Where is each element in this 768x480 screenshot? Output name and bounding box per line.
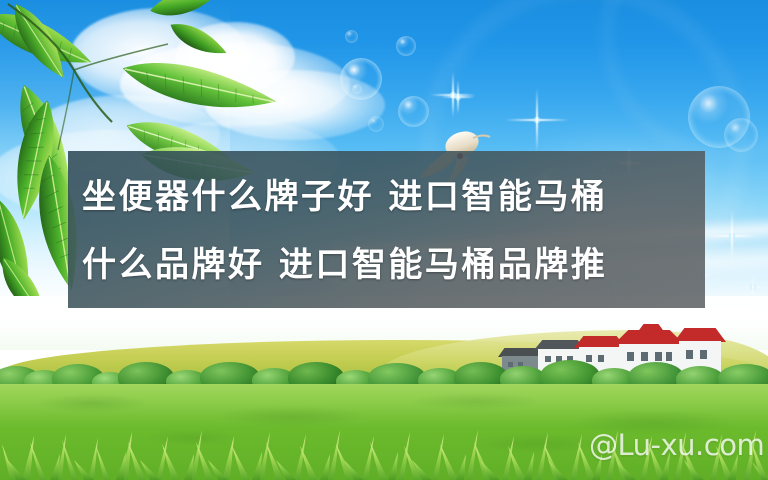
bubble-icon	[352, 84, 362, 94]
headline-line-2: 什么品牌好 进口智能马桶品牌推	[82, 230, 691, 300]
bubble-icon	[345, 30, 358, 43]
headline-text-block: 坐便器什么牌子好 进口智能马桶 什么品牌好 进口智能马桶品牌推	[68, 151, 705, 308]
headline-overlay: 坐便器什么牌子好 进口智能马桶 什么品牌好 进口智能马桶品牌推	[68, 151, 705, 308]
bubble-icon	[398, 96, 429, 127]
bubble-icon	[724, 118, 758, 152]
banner-image: 坐便器什么牌子好 进口智能马桶 什么品牌好 进口智能马桶品牌推 @Lu-xu.c…	[0, 0, 768, 480]
bubble-icon	[396, 36, 416, 56]
sparkle-icon	[505, 88, 569, 152]
watermark: @Lu-xu.com	[589, 428, 764, 462]
sparkle-icon	[742, 276, 764, 298]
bubble-icon	[340, 58, 382, 100]
headline-line-1: 坐便器什么牌子好 进口智能马桶	[82, 162, 691, 232]
bubble-icon	[368, 116, 384, 132]
sparkle-icon	[706, 210, 758, 262]
sparkle-icon	[441, 80, 475, 114]
